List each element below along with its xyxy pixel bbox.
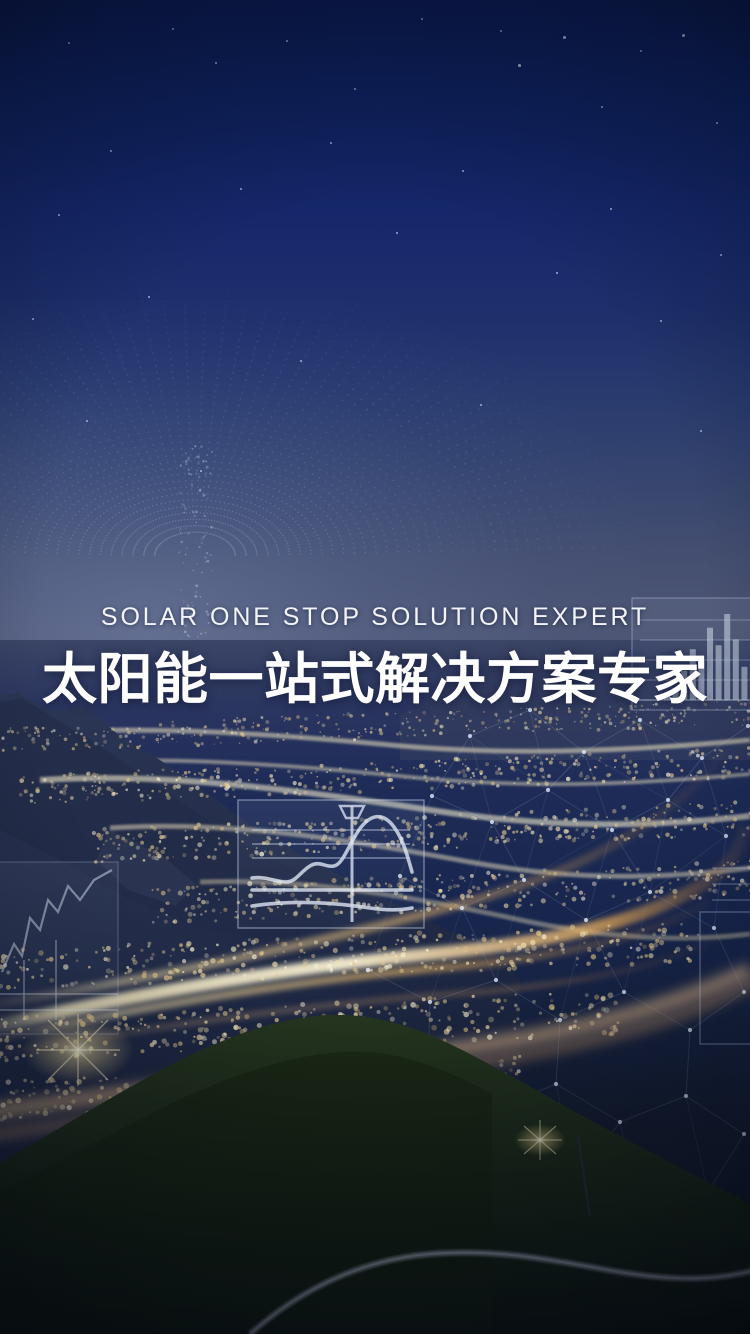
mesh-node [700,756,704,760]
city-night-scene [0,640,750,1334]
mesh-node [430,794,434,798]
hero-headline: 太阳能一站式解决方案专家 [0,646,750,712]
mesh-node [582,750,586,754]
mesh-node [494,978,498,982]
hero-copy: SOLAR ONE STOP SOLUTION EXPERT 太阳能一站式解决方… [0,600,750,712]
mesh-node [684,1094,688,1098]
mesh-node [460,906,464,910]
mesh-node [610,828,614,832]
mesh-node [688,1028,692,1032]
hero-banner: SOLAR ONE STOP SOLUTION EXPERT 太阳能一站式解决方… [0,0,750,1334]
mesh-node [428,1000,432,1004]
mesh-node [468,734,472,738]
mesh-node [618,1120,622,1124]
mesh-node [490,820,494,824]
mesh-node [742,1132,746,1136]
night-sky-background [0,0,750,700]
hero-eyebrow: SOLAR ONE STOP SOLUTION EXPERT [0,600,750,634]
mesh-node [666,798,670,802]
mesh-node [554,1082,558,1086]
mesh-node [398,874,402,878]
mesh-node [546,788,550,792]
mesh-node [622,990,626,994]
mesh-node [584,918,588,922]
mesh-node [522,878,526,882]
mesh-node [724,834,728,838]
landscape-photo [0,640,750,1334]
mesh-node [638,718,642,722]
mesh-node [746,724,750,728]
mesh-node [648,890,652,894]
mesh-node [712,926,716,930]
mesh-node [742,990,746,994]
mesh-node [366,968,370,972]
mesh-node [558,1018,562,1022]
